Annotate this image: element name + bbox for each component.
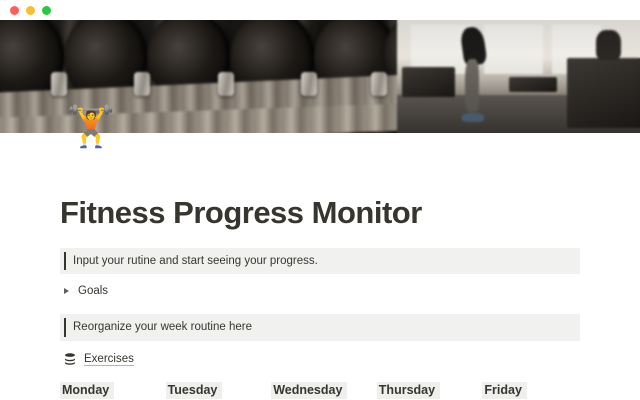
week-column-monday: Monday Legs <box>60 382 158 400</box>
close-button[interactable] <box>10 6 19 15</box>
quote-text: Reorganize your week routine here <box>73 319 252 336</box>
quote-text: Input your rutine and start seeing your … <box>73 253 318 270</box>
column-header-day[interactable]: Thursday <box>377 382 440 399</box>
database-stack-icon <box>64 353 76 366</box>
toggle-block-goals[interactable]: Goals <box>60 285 580 297</box>
page-title[interactable]: Fitness Progress Monitor <box>60 195 580 231</box>
quote-block-intro[interactable]: Input your rutine and start seeing your … <box>60 248 580 275</box>
chevron-right-icon[interactable] <box>64 288 69 294</box>
database-link-label: Exercises <box>84 353 134 366</box>
week-column-wednesday: Wednesday Back & Biceps <box>271 382 369 400</box>
toggle-label: Goals <box>78 285 108 297</box>
quote-block-reorganize[interactable]: Reorganize your week routine here <box>60 314 580 341</box>
maximize-button[interactable] <box>42 6 51 15</box>
minimize-button[interactable] <box>26 6 35 15</box>
week-column-thursday: Thursday Shoulders & Abs <box>377 382 475 400</box>
week-columns: Monday Legs Tuesday Chest & Triceps Wedn… <box>60 382 580 400</box>
week-column-tuesday: Tuesday Chest & Triceps <box>166 382 264 400</box>
column-header-day[interactable]: Wednesday <box>271 382 347 399</box>
page-body: Fitness Progress Monitor Input your ruti… <box>0 195 640 400</box>
week-column-friday: Friday Back and Chest <box>482 382 580 400</box>
database-link-exercises[interactable]: Exercises <box>60 353 580 366</box>
weight-lifter-emoji-icon[interactable]: 🏋️ <box>66 107 116 147</box>
window-titlebar <box>0 0 640 20</box>
column-header-day[interactable]: Monday <box>60 382 114 399</box>
column-header-day[interactable]: Friday <box>482 382 527 399</box>
column-header-day[interactable]: Tuesday <box>166 382 223 399</box>
